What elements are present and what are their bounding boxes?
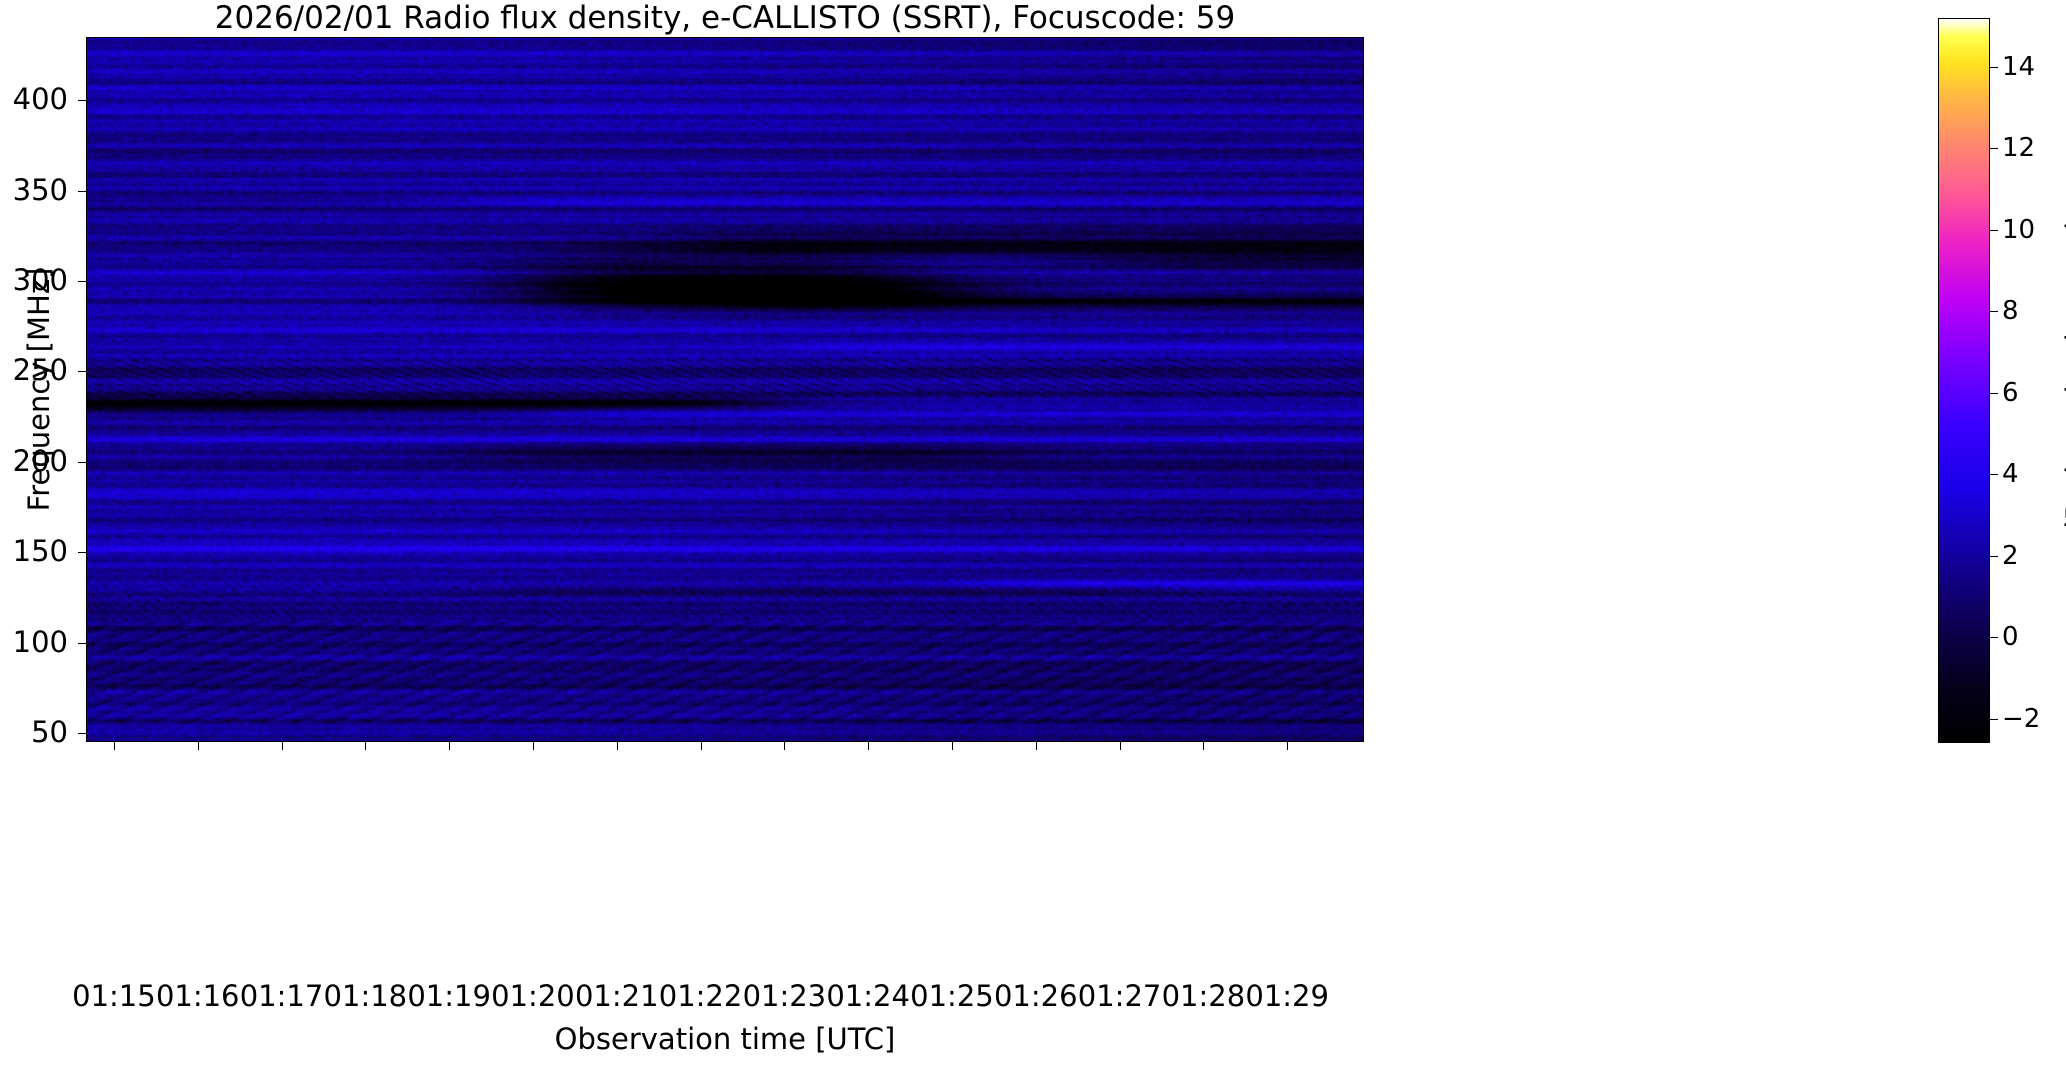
y-tick-label: 200 xyxy=(0,447,68,476)
y-tick-label: 100 xyxy=(0,628,68,657)
y-tick-mark xyxy=(78,100,86,101)
colorbar-tick-mark xyxy=(1990,230,1998,231)
x-tick-mark xyxy=(617,742,618,750)
colorbar-tick-label: 12 xyxy=(2002,135,2066,161)
figure-canvas: 2026/02/01 Radio flux density, e-CALLIST… xyxy=(0,0,2066,1067)
x-tick-mark xyxy=(114,742,115,750)
y-tick-label: 350 xyxy=(0,176,68,205)
y-tick-mark xyxy=(78,281,86,282)
spectrogram-image xyxy=(87,38,1364,742)
y-tick-label: 400 xyxy=(0,85,68,114)
x-tick-mark xyxy=(365,742,366,750)
x-tick-mark xyxy=(449,742,450,750)
y-tick-label: 300 xyxy=(0,266,68,295)
colorbar-tick-mark xyxy=(1990,148,1998,149)
y-tick-mark xyxy=(78,371,86,372)
y-tick-label: 50 xyxy=(0,718,68,747)
colorbar-tick-mark xyxy=(1990,393,1998,394)
x-axis-label: Observation time [UTC] xyxy=(86,1022,1364,1056)
y-tick-label: 250 xyxy=(0,356,68,385)
x-tick-mark xyxy=(868,742,869,750)
colorbar-tick-mark xyxy=(1990,474,1998,475)
y-tick-mark xyxy=(78,462,86,463)
y-tick-mark xyxy=(78,552,86,553)
colorbar-tick-label: 2 xyxy=(2002,543,2066,569)
colorbar-tick-mark xyxy=(1990,719,1998,720)
x-tick-mark xyxy=(701,742,702,750)
colorbar[interactable] xyxy=(1938,18,1990,743)
x-tick-mark xyxy=(1287,742,1288,750)
colorbar-tick-label: 14 xyxy=(2002,54,2066,80)
x-tick-mark xyxy=(282,742,283,750)
y-tick-mark xyxy=(78,191,86,192)
page-title: 2026/02/01 Radio flux density, e-CALLIST… xyxy=(86,0,1364,37)
x-tick-label: 01:29 xyxy=(1217,982,1357,1011)
colorbar-tick-mark xyxy=(1990,67,1998,68)
colorbar-tick-label: 6 xyxy=(2002,380,2066,406)
colorbar-tick-label: 8 xyxy=(2002,298,2066,324)
colorbar-tick-label: 4 xyxy=(2002,461,2066,487)
colorbar-tick-mark xyxy=(1990,637,1998,638)
x-tick-mark xyxy=(1036,742,1037,750)
colorbar-tick-mark xyxy=(1990,556,1998,557)
x-tick-mark xyxy=(1203,742,1204,750)
colorbar-tick-label: 10 xyxy=(2002,217,2066,243)
y-tick-mark xyxy=(78,733,86,734)
y-tick-label: 150 xyxy=(0,537,68,566)
colorbar-gradient xyxy=(1939,19,1989,742)
x-tick-mark xyxy=(533,742,534,750)
x-tick-mark xyxy=(1120,742,1121,750)
colorbar-tick-mark xyxy=(1990,311,1998,312)
colorbar-tick-label: −2 xyxy=(2002,706,2066,732)
spectrogram-axes[interactable] xyxy=(86,37,1364,742)
colorbar-label: dB above background xyxy=(2060,18,2066,743)
x-tick-mark xyxy=(784,742,785,750)
x-tick-mark xyxy=(952,742,953,750)
x-tick-mark xyxy=(198,742,199,750)
colorbar-tick-label: 0 xyxy=(2002,624,2066,650)
y-tick-mark xyxy=(78,643,86,644)
